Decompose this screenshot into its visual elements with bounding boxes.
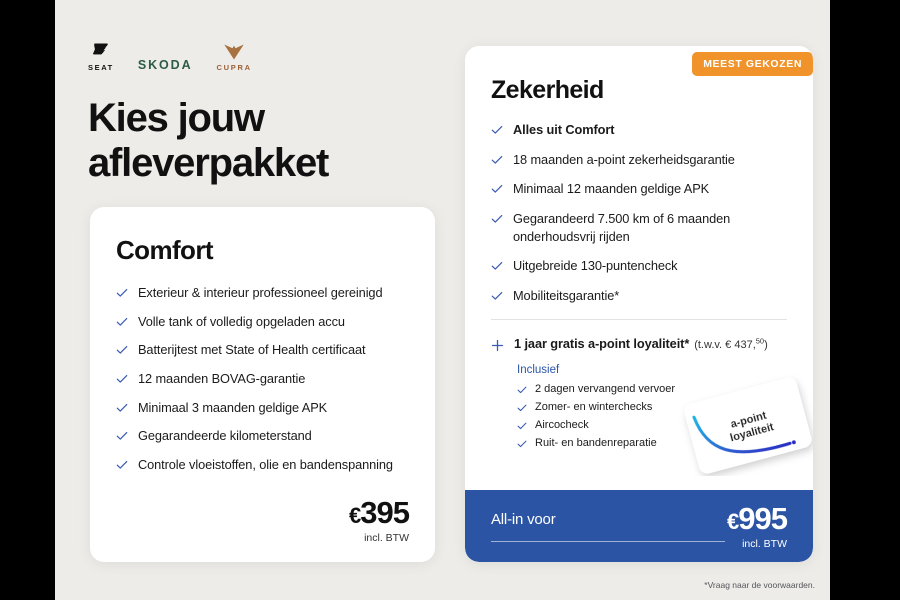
- list-item: 18 maanden a-point zekerheidsgarantie: [491, 151, 787, 169]
- list-item: Controle vloeistoffen, olie en bandenspa…: [116, 456, 409, 474]
- cupra-logo-icon: [222, 43, 246, 61]
- check-icon: [517, 385, 527, 395]
- feature-text: 12 maanden BOVAG-garantie: [138, 370, 305, 388]
- list-item: Exterieur & interieur professioneel gere…: [116, 284, 409, 302]
- list-item: Batterijtest met State of Health certifi…: [116, 341, 409, 359]
- check-icon: [116, 373, 128, 385]
- cupra-logo: CUPRA: [217, 43, 252, 72]
- inclusief-text: Ruit- en bandenreparatie: [535, 437, 657, 449]
- check-icon: [116, 402, 128, 414]
- loyalty-worth-prefix: (t.w.v. € 437,: [694, 339, 756, 351]
- loyalty-worth-cents: 50: [756, 336, 764, 345]
- check-icon: [491, 290, 503, 302]
- brand-logo-row: SEAT SKODA CUPRA: [88, 38, 252, 72]
- loyalty-label: 1 jaar gratis a-point loyaliteit*: [514, 336, 689, 351]
- feature-text: Batterijtest met State of Health certifi…: [138, 341, 365, 359]
- list-item: Alles uit Comfort: [491, 121, 787, 139]
- list-item: Minimaal 3 maanden geldige APK: [116, 399, 409, 417]
- check-icon: [491, 183, 503, 195]
- feature-text: 18 maanden a-point zekerheidsgarantie: [513, 151, 735, 169]
- currency-symbol: €: [727, 509, 738, 534]
- check-icon: [116, 459, 128, 471]
- check-icon: [116, 344, 128, 356]
- allin-underline: [491, 541, 725, 542]
- price-amount: 395: [360, 495, 409, 530]
- check-icon: [517, 403, 527, 413]
- comfort-price-block: €395 incl. BTW: [349, 497, 409, 544]
- seat-logo-icon: [91, 41, 111, 61]
- allin-label: All-in voor: [491, 511, 556, 542]
- list-item: Aircocheck: [517, 419, 787, 431]
- check-icon: [491, 260, 503, 272]
- feature-text: Gegarandeerd 7.500 km of 6 maanden onder…: [513, 210, 787, 245]
- list-item: Gegarandeerd 7.500 km of 6 maanden onder…: [491, 210, 787, 245]
- currency-symbol: €: [349, 503, 360, 528]
- price-amount: 995: [738, 501, 787, 536]
- feature-text: Controle vloeistoffen, olie en bandenspa…: [138, 456, 393, 474]
- check-icon: [116, 287, 128, 299]
- package-card-zekerheid: MEEST GEKOZEN Zekerheid Alles uit Comfor…: [465, 46, 813, 562]
- list-item: 12 maanden BOVAG-garantie: [116, 370, 409, 388]
- comfort-title: Comfort: [116, 235, 409, 266]
- comfort-price: €395: [349, 497, 409, 528]
- feature-text: Minimaal 3 maanden geldige APK: [138, 399, 327, 417]
- inclusief-block: Inclusief 2 dagen vervangend vervoer Zom…: [517, 364, 787, 449]
- inclusief-text: Aircocheck: [535, 419, 589, 431]
- feature-text: Uitgebreide 130-puntencheck: [513, 257, 678, 275]
- loyalty-worth: (t.w.v. € 437,50): [694, 339, 768, 351]
- allin-price-footer: All-in voor €995 incl. BTW: [465, 490, 813, 562]
- list-item: Gegarandeerde kilometerstand: [116, 427, 409, 445]
- allin-price-block: €995 incl. BTW: [727, 503, 787, 550]
- list-item: Volle tank of volledig opgeladen accu: [116, 313, 409, 331]
- inclusief-list: 2 dagen vervangend vervoer Zomer- en win…: [517, 383, 787, 449]
- check-icon: [491, 213, 503, 225]
- screenshot-stage: SEAT SKODA CUPRA Kies jouw afleverpakket…: [0, 0, 900, 600]
- check-icon: [491, 154, 503, 166]
- feature-text: Gegarandeerde kilometerstand: [138, 427, 312, 445]
- cupra-wordmark: CUPRA: [217, 63, 252, 72]
- allin-label-text: All-in voor: [491, 511, 556, 528]
- page-canvas: SEAT SKODA CUPRA Kies jouw afleverpakket…: [55, 0, 830, 600]
- feature-text: Alles uit Comfort: [513, 121, 614, 139]
- comfort-feature-list: Exterieur & interieur professioneel gere…: [116, 284, 409, 474]
- zekerheid-title: Zekerheid: [491, 76, 787, 105]
- seat-wordmark: SEAT: [88, 63, 114, 72]
- check-icon: [491, 124, 503, 136]
- page-title: Kies jouw afleverpakket: [88, 96, 478, 186]
- list-item: Minimaal 12 maanden geldige APK: [491, 180, 787, 198]
- list-item: 2 dagen vervangend vervoer: [517, 383, 787, 395]
- list-item: Zomer- en winterchecks: [517, 401, 787, 413]
- zekerheid-feature-list: Alles uit Comfort 18 maanden a-point zek…: [491, 121, 787, 305]
- feature-text: Minimaal 12 maanden geldige APK: [513, 180, 709, 198]
- check-icon: [517, 421, 527, 431]
- section-divider: [491, 319, 787, 320]
- package-card-comfort: Comfort Exterieur & interieur profession…: [90, 207, 435, 562]
- allin-price-note: incl. BTW: [727, 538, 787, 550]
- inclusief-title: Inclusief: [517, 364, 787, 376]
- list-item: Ruit- en bandenreparatie: [517, 437, 787, 449]
- check-icon: [116, 316, 128, 328]
- seat-logo: SEAT: [88, 41, 114, 72]
- feature-text: Mobiliteitsgarantie*: [513, 287, 619, 305]
- feature-text: Volle tank of volledig opgeladen accu: [138, 313, 345, 331]
- list-item: Mobiliteitsgarantie*: [491, 287, 787, 305]
- inclusief-text: Zomer- en winterchecks: [535, 401, 652, 413]
- list-item: Uitgebreide 130-puntencheck: [491, 257, 787, 275]
- skoda-logo: SKODA: [138, 58, 193, 72]
- loyalty-worth-suffix: ): [764, 339, 768, 351]
- allin-price: €995: [727, 503, 787, 534]
- check-icon: [116, 430, 128, 442]
- feature-text: Exterieur & interieur professioneel gere…: [138, 284, 382, 302]
- skoda-wordmark-icon: SKODA: [138, 58, 193, 72]
- inclusief-text: 2 dagen vervangend vervoer: [535, 383, 675, 395]
- status-badge: MEEST GEKOZEN: [692, 52, 813, 76]
- loyalty-highlight-row: 1 jaar gratis a-point loyaliteit*(t.w.v.…: [491, 336, 787, 352]
- comfort-price-note: incl. BTW: [349, 532, 409, 544]
- check-icon: [517, 439, 527, 449]
- plus-icon: [491, 339, 504, 352]
- footnote: *Vraag naar de voorwaarden.: [704, 580, 815, 590]
